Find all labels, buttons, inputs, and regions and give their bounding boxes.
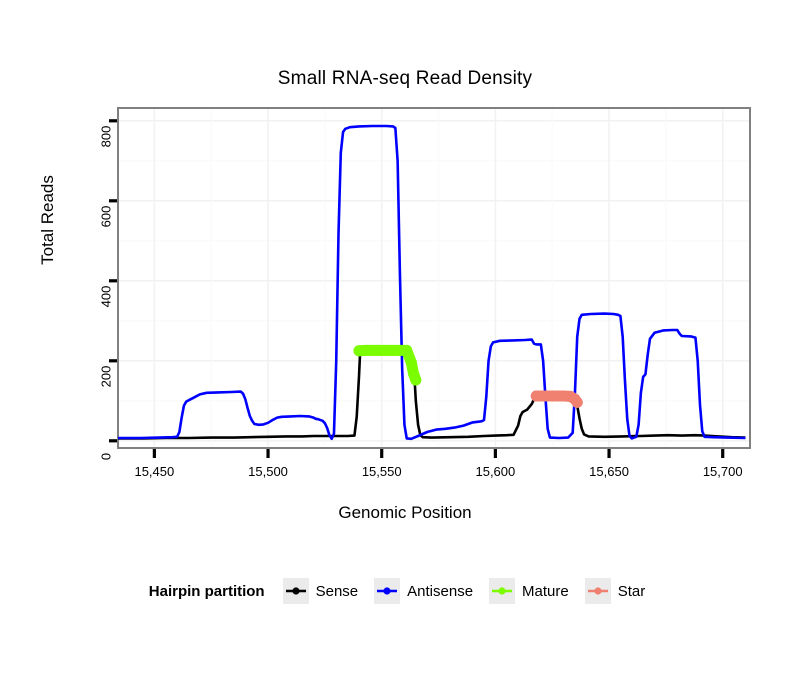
x-tick-label: 15,550 — [347, 464, 417, 479]
plot-panel — [118, 108, 750, 448]
series-point-mature — [406, 357, 417, 368]
x-tick-label: 15,650 — [574, 464, 644, 479]
series-point-mature — [410, 375, 421, 386]
y-tick-label: 200 — [99, 359, 114, 393]
y-tick-label: 600 — [99, 199, 114, 233]
legend-key-antisense-icon — [374, 578, 400, 604]
y-tick-label: 800 — [99, 119, 114, 153]
series-point-mature — [401, 345, 412, 356]
legend-key-sense-icon — [283, 578, 309, 604]
x-tick-label: 15,500 — [233, 464, 303, 479]
legend-item-mature[interactable]: Mature — [489, 578, 579, 604]
legend-item-antisense[interactable]: Antisense — [374, 578, 483, 604]
x-tick-label: 15,450 — [119, 464, 189, 479]
chart-container: Small RNA-seq Read Density Total Reads G… — [0, 0, 810, 690]
legend-label: Mature — [522, 583, 569, 600]
legend-item-star[interactable]: Star — [585, 578, 656, 604]
legend-label: Antisense — [407, 583, 473, 600]
series-point-star — [572, 397, 583, 408]
x-tick-label: 15,600 — [460, 464, 530, 479]
legend-label: Sense — [316, 583, 359, 600]
y-tick-label: 400 — [99, 279, 114, 313]
legend-key-star-icon — [585, 578, 611, 604]
x-tick-label: 15,700 — [688, 464, 758, 479]
legend-label: Star — [618, 583, 646, 600]
legend-title: Hairpin partition — [149, 583, 265, 600]
legend-key-mature-icon — [489, 578, 515, 604]
legend-item-sense[interactable]: Sense — [283, 578, 369, 604]
legend-items: SenseAntisenseMatureStar — [283, 578, 662, 604]
y-tick-label: 0 — [99, 439, 114, 473]
legend: Hairpin partition SenseAntisenseMatureSt… — [0, 578, 810, 604]
